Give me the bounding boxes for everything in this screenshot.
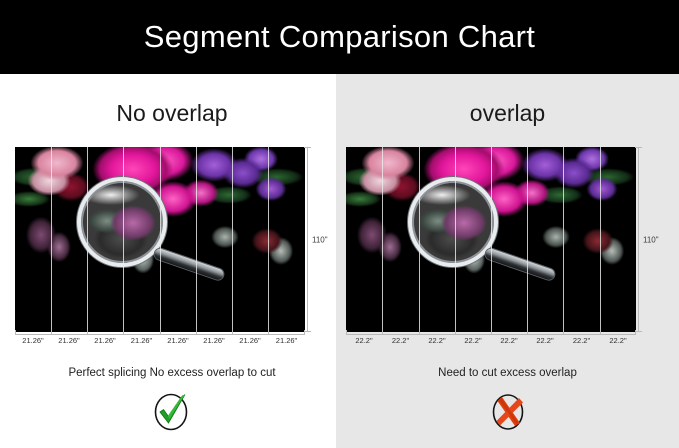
- segment-width-label: 22.2": [455, 336, 491, 345]
- segment-seam: [455, 147, 456, 332]
- segment-seam: [51, 147, 52, 332]
- segment-seam: [563, 147, 564, 332]
- panel-heading-overlap: overlap: [336, 100, 679, 127]
- panel-heading-no-overlap: No overlap: [0, 100, 340, 127]
- segment-width-label: 21.26": [196, 336, 232, 345]
- segment-width-label: 21.26": [123, 336, 160, 345]
- wall-preview-no-overlap: 110" 21.26" 21.26" 21.26" 21.26": [15, 147, 305, 332]
- segment-width-label: 22.2": [491, 336, 527, 345]
- segment-seam: [491, 147, 492, 332]
- panel-no-overlap: No overlap 110": [0, 74, 336, 448]
- segment-width-label: 22.2": [600, 336, 636, 345]
- segment-width-label: 21.26": [268, 336, 305, 345]
- segment-seam: [419, 147, 420, 332]
- segment-comparison-chart: Segment Comparison Chart No overlap: [0, 0, 679, 448]
- segment-width-label: 22.2": [346, 336, 382, 345]
- cross-circle-icon: [487, 392, 529, 432]
- segment-seam: [232, 147, 233, 332]
- segment-width-label: 21.26": [51, 336, 87, 345]
- height-label-no-overlap: 110": [312, 235, 328, 244]
- height-caliper: [638, 147, 639, 332]
- mural-image-no-overlap: [15, 147, 305, 332]
- caption-overlap: Need to cut excess overlap: [336, 367, 679, 379]
- width-labels-overlap: 22.2" 22.2" 22.2" 22.2" 22.2" 22.2" 22.2…: [346, 332, 636, 354]
- mural-image-overlap: [346, 147, 636, 332]
- segment-width-label: 21.26": [160, 336, 196, 345]
- segment-width-label: 21.26": [15, 336, 51, 345]
- segment-width-label: 22.2": [382, 336, 419, 345]
- segment-seam: [527, 147, 528, 332]
- segment-seam: [600, 147, 601, 332]
- segment-width-label: 22.2": [563, 336, 600, 345]
- check-circle-icon: [151, 392, 193, 432]
- segment-width-label: 22.2": [419, 336, 455, 345]
- height-caliper: [307, 147, 308, 332]
- segment-width-label: 22.2": [527, 336, 563, 345]
- segment-width-label: 21.26": [232, 336, 268, 345]
- segment-seam: [268, 147, 269, 332]
- segment-seam: [123, 147, 124, 332]
- title-banner: Segment Comparison Chart: [0, 0, 679, 74]
- caption-no-overlap: Perfect splicing No excess overlap to cu…: [0, 367, 340, 379]
- height-label-overlap: 110": [643, 235, 659, 244]
- verdict-overlap: [336, 392, 679, 432]
- width-labels-no-overlap: 21.26" 21.26" 21.26" 21.26" 21.26" 21.26…: [15, 332, 305, 354]
- page-title: Segment Comparison Chart: [144, 19, 535, 55]
- verdict-no-overlap: [0, 392, 340, 432]
- segment-seam: [382, 147, 383, 332]
- segment-seam: [196, 147, 197, 332]
- segment-seam: [160, 147, 161, 332]
- segment-seam: [87, 147, 88, 332]
- segment-width-label: 21.26": [87, 336, 123, 345]
- comparison-panels: No overlap 110": [0, 74, 679, 448]
- wall-preview-overlap: 110" 22.2" 22.2" 22.2" 22.2" 2: [346, 147, 636, 332]
- panel-overlap: overlap 110": [336, 74, 679, 448]
